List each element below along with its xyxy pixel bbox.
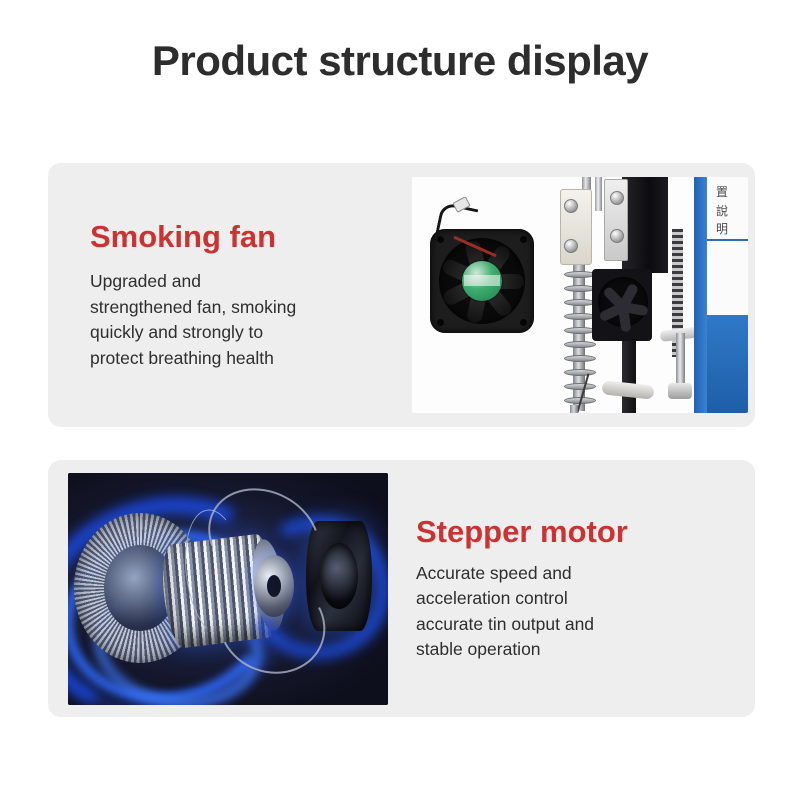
panel-blue-block — [707, 315, 748, 413]
cooling-fan-icon — [430, 229, 534, 333]
stepper-motor-heading: Stepper motor — [416, 514, 731, 551]
body-line: quickly and strongly to — [90, 320, 394, 346]
smoking-fan-heading: Smoking fan — [90, 219, 394, 256]
product-structure-page: { "page": { "title": "Product structure … — [0, 0, 800, 800]
panel-char: 置 — [716, 183, 728, 202]
body-line: acceleration control — [416, 586, 731, 612]
fan-photo-canvas: 置 說 明 — [412, 177, 748, 413]
feature-card-smoking-fan: Smoking fan Upgraded and strengthened fa… — [48, 163, 755, 427]
body-line: stable operation — [416, 637, 731, 663]
stepper-motor-body: Accurate speed and acceleration control … — [416, 561, 731, 663]
panel-characters: 置 說 明 — [716, 183, 728, 239]
body-line: strengthened fan, smoking — [90, 295, 394, 321]
page-title: Product structure display — [0, 38, 800, 84]
stepper-motor-copy: Stepper motor Accurate speed and acceler… — [388, 514, 755, 663]
body-line: accurate tin output and — [416, 612, 731, 638]
body-line: Accurate speed and — [416, 561, 731, 587]
instruction-panel: 置 說 明 — [694, 177, 748, 413]
motor-render-canvas — [68, 473, 388, 705]
body-line: protect breathing health — [90, 346, 394, 372]
stepper-motor-render — [68, 473, 388, 705]
machine-fan-housing — [592, 269, 652, 341]
smoking-fan-body: Upgraded and strengthened fan, smoking q… — [90, 269, 394, 371]
feature-card-stepper-motor: Stepper motor Accurate speed and acceler… — [48, 460, 755, 717]
spring-assembly — [564, 265, 594, 411]
panel-char: 說 — [716, 202, 728, 221]
panel-char: 明 — [716, 220, 728, 239]
panel-blue-stripe — [694, 177, 707, 413]
body-line: Upgraded and — [90, 269, 394, 295]
smoking-fan-photo: 置 說 明 — [412, 177, 748, 413]
smoking-fan-copy: Smoking fan Upgraded and strengthened fa… — [48, 219, 412, 372]
